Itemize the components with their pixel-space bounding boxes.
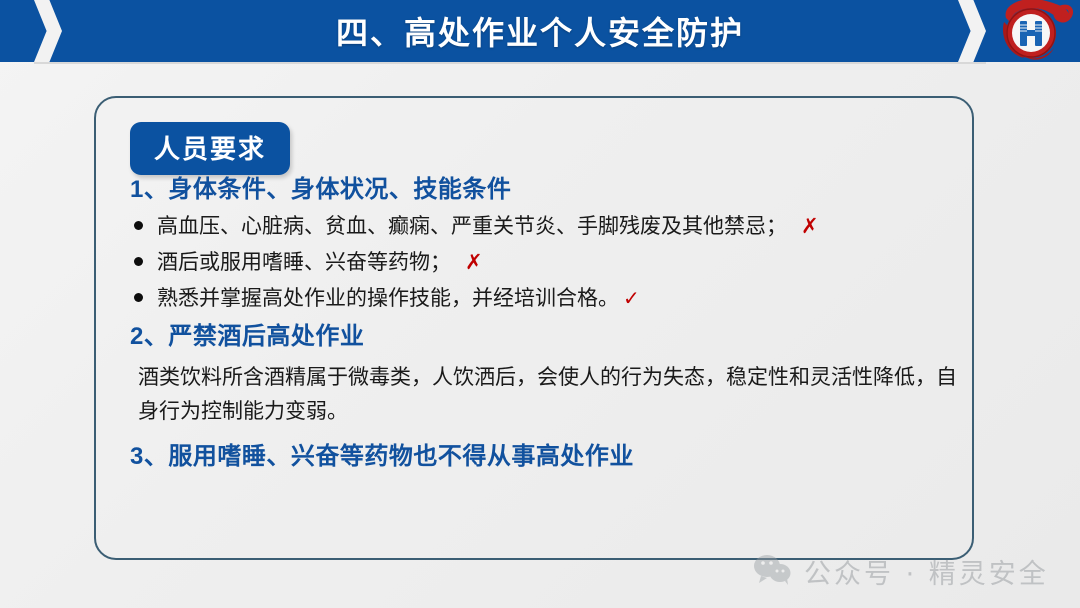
page-title: 四、高处作业个人安全防护 xyxy=(0,0,1080,62)
list-item-text: 高血压、心脏病、贫血、癫痫、严重关节炎、手脚残废及其他禁忌； xyxy=(157,216,787,237)
section-heading-2: 2、严禁酒后高处作业 xyxy=(130,325,970,349)
card-content: 1、身体条件、身体状况、技能条件 高血压、心脏病、贫血、癫痫、严重关节炎、手脚残… xyxy=(130,178,970,469)
requirement-list: 高血压、心脏病、贫血、癫痫、严重关节炎、手脚残废及其他禁忌； ✗ 酒后或服用嗜睡… xyxy=(134,216,970,309)
bullet-dot-icon xyxy=(134,221,143,230)
wechat-icon xyxy=(752,553,792,590)
list-item: 高血压、心脏病、贫血、癫痫、严重关节炎、手脚残废及其他禁忌； ✗ xyxy=(134,216,970,237)
list-item-text: 酒后或服用嗜睡、兴奋等药物； xyxy=(157,252,451,273)
list-item: 熟悉并掌握高处作业的操作技能，并经培训合格。 ✓ xyxy=(134,288,970,309)
list-item: 酒后或服用嗜睡、兴奋等药物； ✗ xyxy=(134,252,970,273)
header-underline xyxy=(34,62,986,64)
watermark: 公众号 · 精灵安全 xyxy=(752,552,1049,591)
company-seal-logo xyxy=(998,0,1074,66)
cross-icon: ✗ xyxy=(801,216,819,237)
section-badge: 人员要求 xyxy=(130,122,290,175)
section-heading-1: 1、身体条件、身体状况、技能条件 xyxy=(130,178,970,202)
bullet-dot-icon xyxy=(134,293,143,302)
page-header: 四、高处作业个人安全防护 xyxy=(0,0,1080,62)
bullet-dot-icon xyxy=(134,257,143,266)
section-heading-3: 3、服用嗜睡、兴奋等药物也不得从事高处作业 xyxy=(130,445,970,469)
list-item-text: 熟悉并掌握高处作业的操作技能，并经培训合格。 xyxy=(157,288,619,309)
cross-icon: ✗ xyxy=(465,252,483,273)
section-paragraph: 酒类饮料所含酒精属于微毒类，人饮洒后，会使人的行为失态，稳定性和灵活性降低，自身… xyxy=(138,361,968,429)
watermark-text: 公众号 · 精灵安全 xyxy=(804,552,1049,591)
check-icon: ✓ xyxy=(623,289,640,309)
